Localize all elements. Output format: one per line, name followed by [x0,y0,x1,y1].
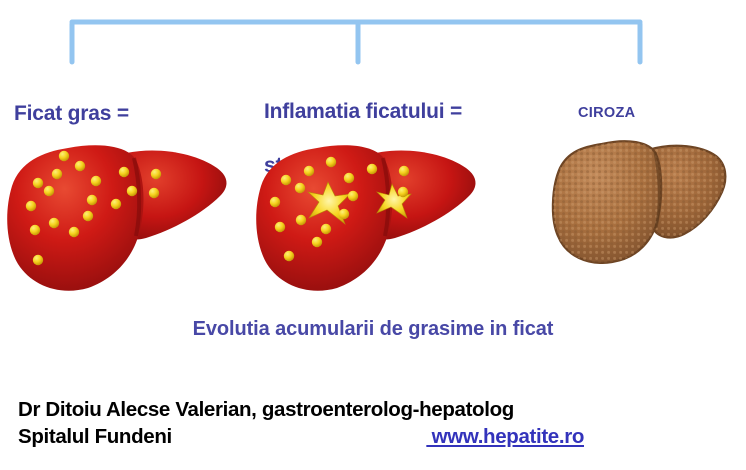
fat-droplet [270,197,280,207]
fat-droplet [52,169,62,179]
fat-droplet [149,188,159,198]
hospital-name: Spitalul Fundeni [18,423,172,450]
fatty-liver-illustration [4,138,230,293]
fat-droplet [75,161,85,171]
fat-droplet [399,166,409,176]
cirrhotic-left-lobe [553,141,661,263]
fat-droplet [312,237,322,247]
fat-droplet [344,173,354,183]
fat-droplet [284,251,294,261]
fat-droplet [304,166,314,176]
stage-label-steatosis-line1: Ficat gras = [14,102,129,125]
fat-droplet [26,201,36,211]
fat-droplet [33,178,43,188]
fat-droplet [59,151,69,161]
fat-droplet [367,164,377,174]
fat-droplet [348,191,358,201]
fat-droplet [119,167,129,177]
diagram-caption: Evolutia acumularii de grasime in ficat [0,318,746,341]
fat-droplet [339,209,349,219]
fat-droplet [33,255,43,265]
website-link[interactable]: www.hepatite.ro [426,423,584,450]
fat-droplet [398,187,408,197]
fat-droplet [91,176,101,186]
fat-droplet [49,218,59,228]
fat-droplet [83,211,93,221]
fat-droplet [275,222,285,232]
fat-droplet [87,195,97,205]
inflamed-liver-illustration [253,138,479,293]
liver-disease-progression-infographic: Ficat gras = steatoza hepatica Inflamati… [0,0,746,470]
author-name-line: Dr Ditoiu Alecse Valerian, gastroenterol… [18,396,734,423]
fat-droplet [69,227,79,237]
fat-droplet [127,186,137,196]
author-attribution: Dr Ditoiu Alecse Valerian, gastroenterol… [18,396,734,451]
fat-droplet [326,157,336,167]
fat-droplet [321,224,331,234]
fat-droplet [296,215,306,225]
progression-bracket [0,0,746,70]
stage-label-cirrhosis-line1: CIROZA [578,105,635,121]
stage-label-steatohepatitis-line1: Inflamatia ficatului = [264,100,462,123]
fat-droplet [44,186,54,196]
fat-droplet [30,225,40,235]
fat-droplet [281,175,291,185]
hospital-and-website-row: Spitalul Fundeni www.hepatite.ro [18,423,734,450]
fat-droplet [111,199,121,209]
fat-droplet [295,183,305,193]
fat-droplet [151,169,161,179]
cirrhotic-liver-illustration [550,134,730,264]
